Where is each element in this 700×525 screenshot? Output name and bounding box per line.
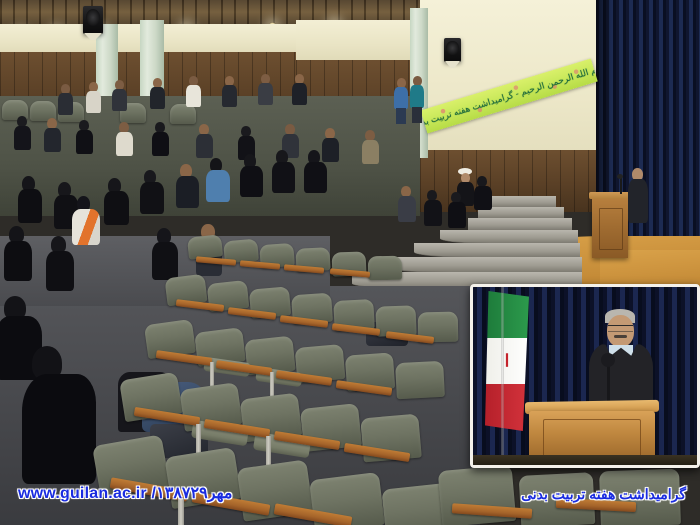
body [152, 132, 169, 156]
seat-back [187, 234, 223, 259]
step [386, 257, 582, 273]
seat-leg [266, 436, 271, 468]
body [72, 209, 100, 245]
body [152, 242, 178, 280]
body [410, 85, 424, 108]
body [474, 186, 492, 210]
body [86, 91, 101, 113]
body [398, 196, 416, 222]
step [440, 230, 578, 244]
seat-back [368, 256, 402, 281]
body [176, 176, 199, 208]
event-title-caption: گرامیداشت هفته تربیت بدنی [521, 486, 686, 503]
inset-stage-floor [473, 455, 697, 465]
wall-speaker-left [83, 6, 103, 34]
flag-stripe-red [485, 384, 529, 431]
inset-microphone-head [601, 353, 615, 367]
body [4, 241, 32, 281]
inset-speaker-mustache [614, 335, 627, 338]
legs [412, 107, 422, 123]
body [76, 130, 93, 154]
body [196, 134, 213, 158]
body [424, 200, 442, 226]
auditorium-photograph: بسم الله الرحمن الرحیم - گرامیداشت هفته … [0, 0, 700, 525]
seat-leg [210, 362, 214, 388]
body [140, 182, 164, 214]
body [18, 189, 42, 223]
body [448, 202, 466, 228]
flag-emblem: ا [505, 353, 510, 370]
body [116, 132, 133, 156]
flag-pole [501, 287, 504, 465]
body [206, 170, 230, 202]
step [414, 243, 580, 258]
inset-photo-speaker: ا [470, 284, 700, 468]
body [58, 93, 73, 115]
body [258, 83, 273, 105]
body [222, 85, 237, 107]
body [362, 140, 379, 164]
seat [170, 104, 196, 124]
microphone-stand [620, 178, 622, 194]
flag-stripe-green [485, 291, 529, 338]
body [240, 166, 263, 197]
speaker-body [628, 179, 648, 223]
body [104, 191, 129, 225]
body [150, 87, 165, 109]
seat-leg [270, 372, 274, 398]
main-podium-panel [599, 208, 623, 250]
body [112, 89, 127, 111]
main-podium-top [589, 192, 631, 199]
microphone-head [617, 174, 623, 179]
body [46, 251, 74, 291]
body [22, 374, 96, 484]
iran-flag: ا [485, 291, 529, 431]
legs [396, 108, 406, 124]
wall-speaker-right [444, 38, 461, 62]
body [304, 162, 327, 193]
body [272, 162, 295, 193]
inset-speaker-glasses [608, 325, 633, 332]
body [14, 126, 31, 150]
body [322, 138, 339, 162]
body [394, 87, 408, 109]
body [292, 83, 307, 105]
body [44, 128, 61, 152]
body [186, 85, 201, 107]
website-url-caption: www.guilan.ac.ir /۱۳۸۷مهر۲۹ [18, 483, 233, 503]
inset-podium-panel [543, 419, 641, 457]
seat-back [395, 361, 445, 399]
